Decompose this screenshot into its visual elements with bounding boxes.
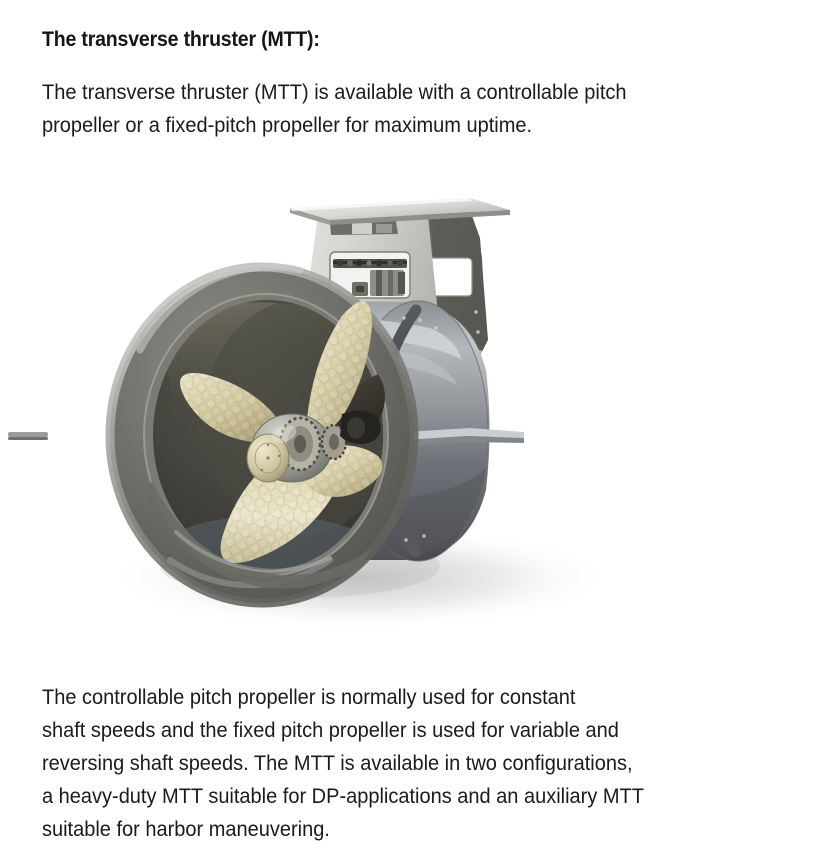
intro-paragraph: The transverse thruster (MTT) is availab… [42, 76, 786, 142]
outro-line-2: shaft speeds and the fixed pitch propell… [42, 714, 814, 747]
intro-line-2: propeller or a fixed-pitch propeller for… [42, 109, 786, 142]
tunnel-front-assembly [110, 267, 414, 603]
outro-line-3: reversing shaft speeds. The MTT is avail… [42, 747, 814, 780]
intro-line-1: The transverse thruster (MTT) is availab… [42, 76, 786, 109]
page-title: The transverse thruster (MTT): [42, 27, 749, 53]
outro-line-4: a heavy-duty MTT suitable for DP-applica… [42, 780, 814, 813]
tunnel-left-stub [8, 432, 48, 437]
product-info-page: The transverse thruster (MTT): The trans… [0, 0, 830, 863]
outro-line-5: suitable for harbor maneuvering. [42, 813, 814, 846]
description-paragraph: The controllable pitch propeller is norm… [42, 681, 814, 846]
thruster-illustration [0, 160, 830, 665]
outro-line-1: The controllable pitch propeller is norm… [42, 681, 814, 714]
bracket-upper-slot-machinery-2 [376, 224, 392, 233]
bracket-top-plate [290, 198, 510, 225]
bracket-upper-slot-machinery [352, 223, 372, 234]
product-image [0, 160, 830, 665]
hub-shaft-collar [347, 417, 365, 439]
